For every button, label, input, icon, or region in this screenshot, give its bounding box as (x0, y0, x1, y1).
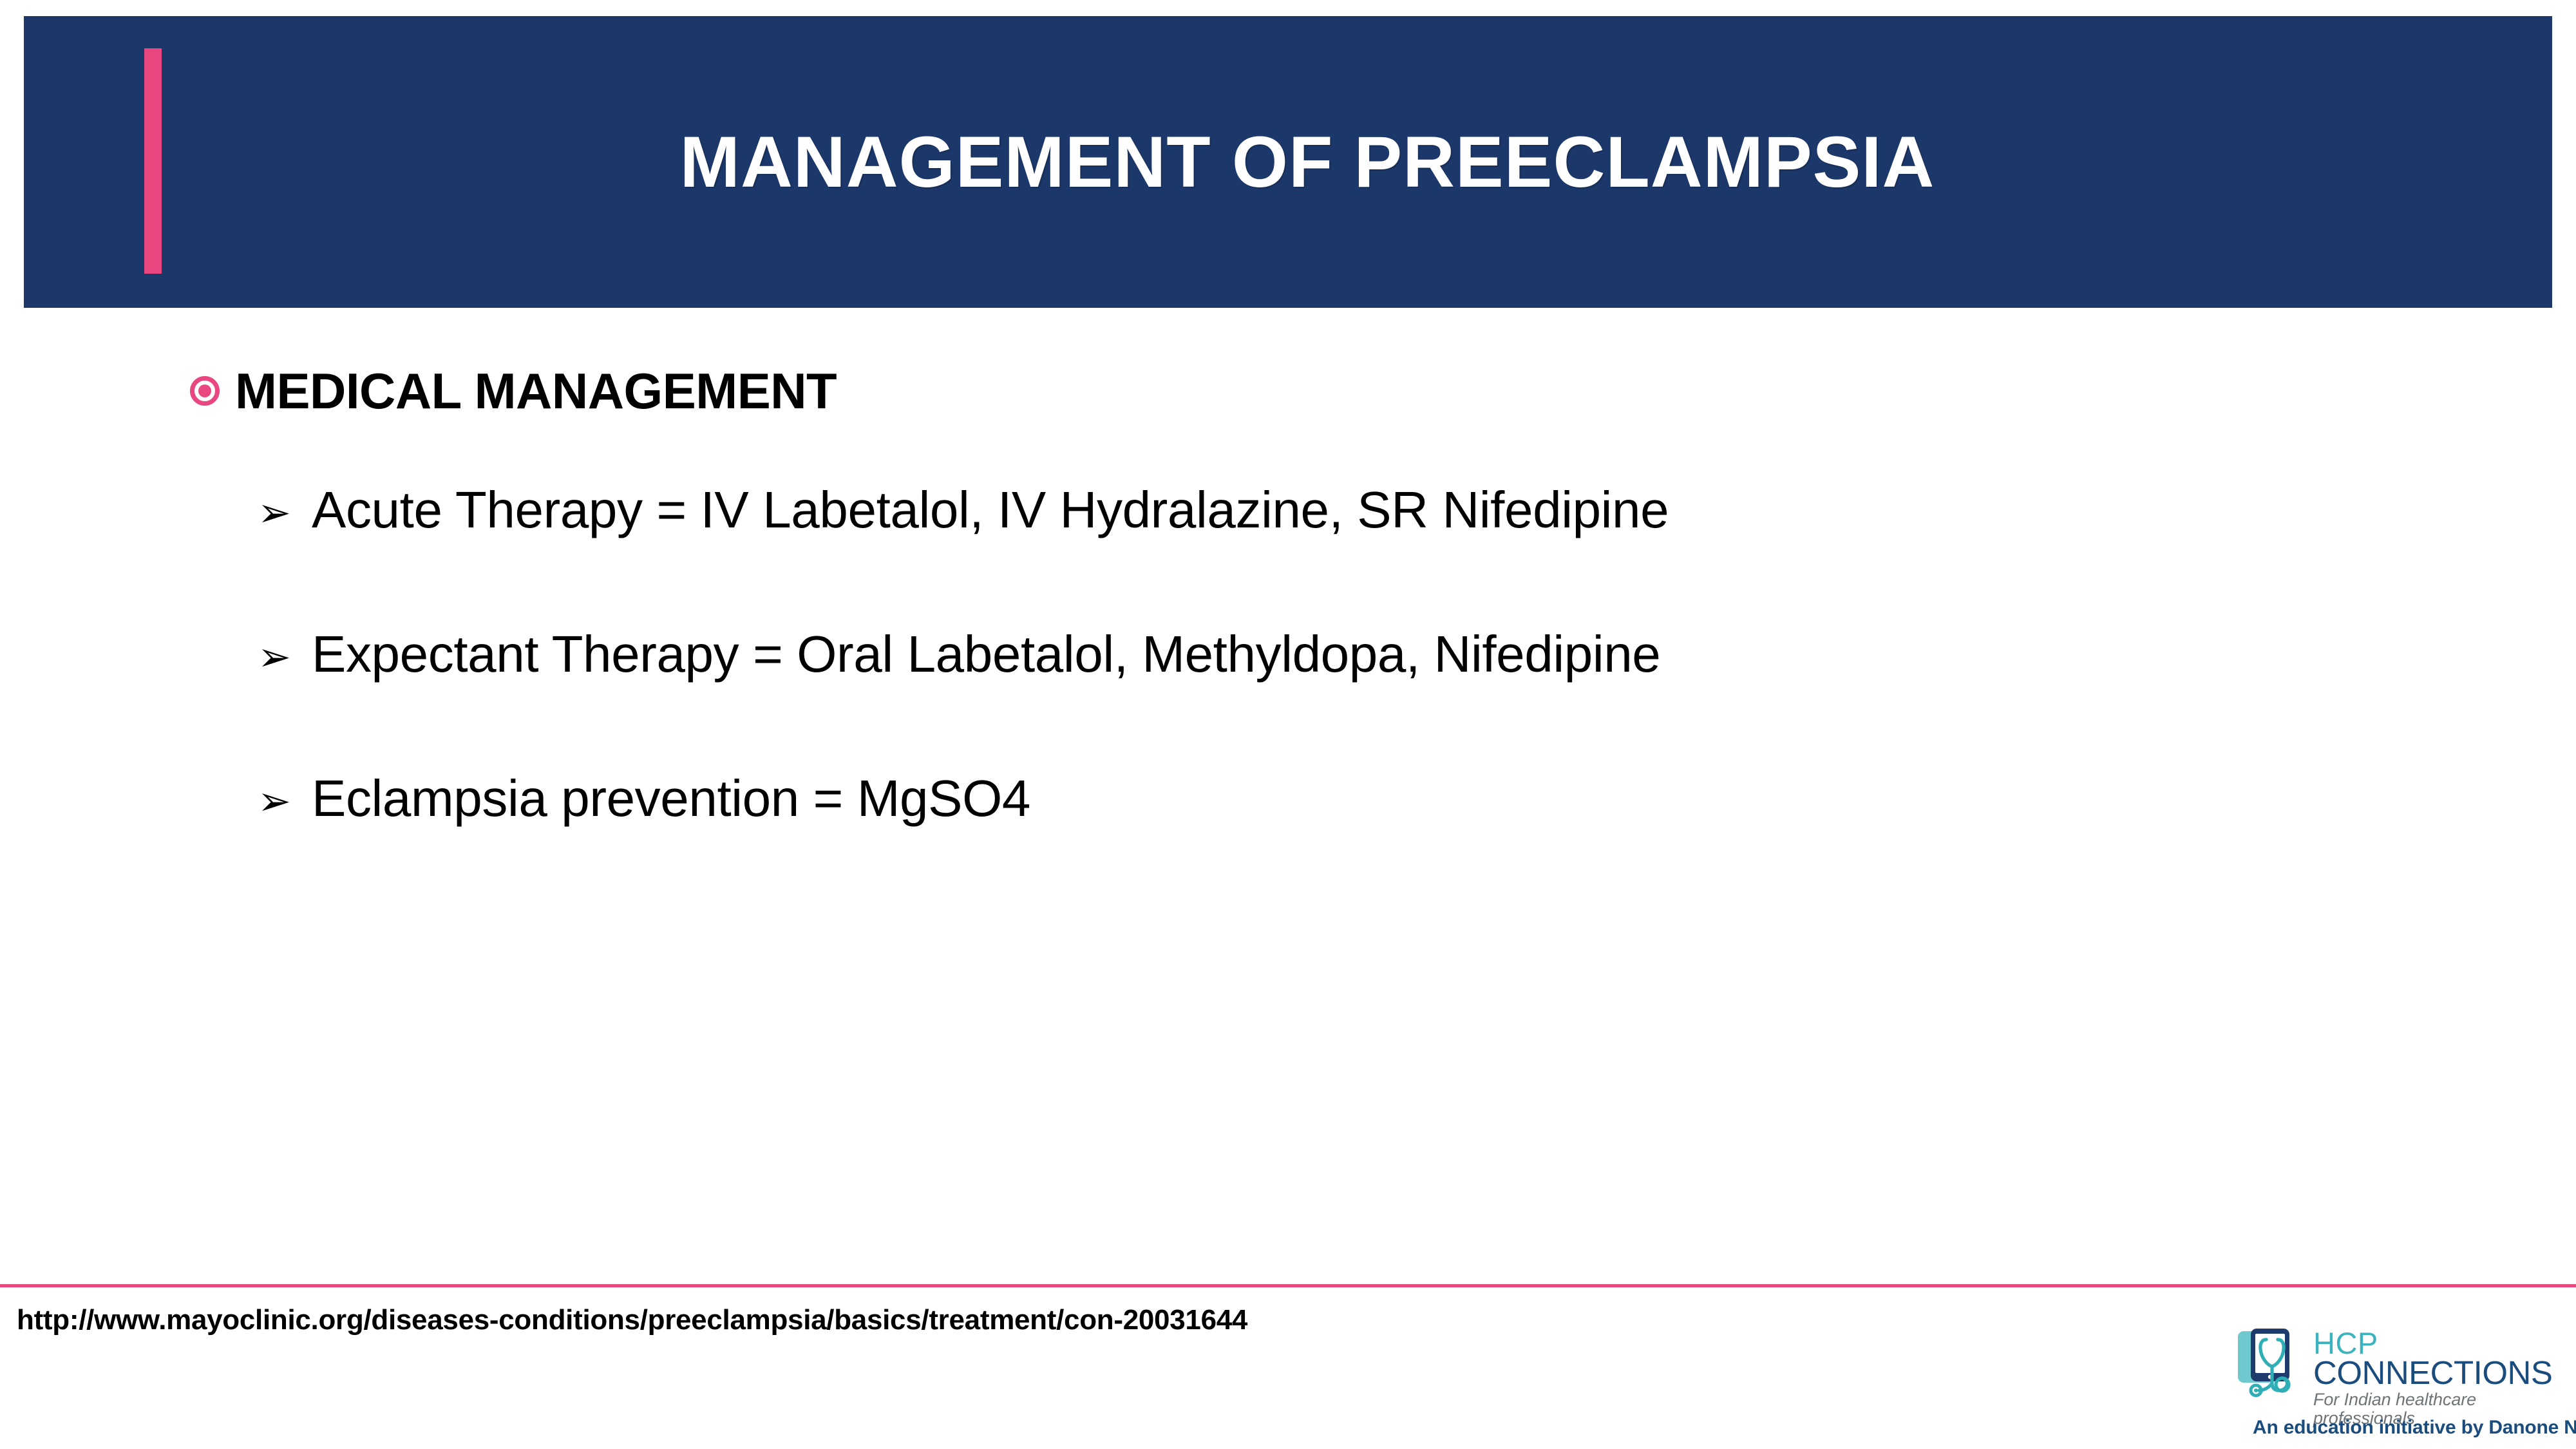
logo-name-connections: CONNECTIONS (2313, 1356, 2564, 1389)
arrowhead-bullet-icon: ➢ (258, 781, 287, 821)
bullet-level1-medical-management: MEDICAL MANAGEMENT (190, 366, 837, 416)
list-item-label: Expectant Therapy = Oral Labetalol, Meth… (312, 629, 1660, 680)
logo-name-hcp: HCP (2313, 1329, 2564, 1358)
logo-lockup: HCP CONNECTIONS For Indian healthcare pr… (2236, 1328, 2564, 1428)
bullet-level1-label: MEDICAL MANAGEMENT (235, 366, 837, 416)
sub-bullet-list: ➢ Acute Therapy = IV Labetalol, IV Hydra… (258, 484, 2447, 917)
hcp-connections-logo: HCP CONNECTIONS For Indian healthcare pr… (2236, 1328, 2564, 1444)
list-item: ➢ Acute Therapy = IV Labetalol, IV Hydra… (258, 484, 2447, 629)
list-item-label: Acute Therapy = IV Labetalol, IV Hydrala… (312, 484, 1669, 536)
target-bullet-icon (190, 376, 220, 406)
list-item: ➢ Eclampsia prevention = MgSO4 (258, 773, 2447, 917)
slide-body: MEDICAL MANAGEMENT ➢ Acute Therapy = IV … (0, 335, 2576, 1262)
page-title: MANAGEMENT OF PREECLAMPSIA (24, 16, 2552, 308)
list-item-label: Eclampsia prevention = MgSO4 (312, 773, 1030, 824)
slide-header-band: MANAGEMENT OF PREECLAMPSIA (24, 16, 2552, 308)
source-url-link[interactable]: http://www.mayoclinic.org/diseases-condi… (17, 1306, 1247, 1334)
logo-wordmark: HCP CONNECTIONS For Indian healthcare pr… (2313, 1328, 2564, 1428)
logo-initiative-line: An education initiative by Danone Nutric… (2253, 1418, 2576, 1437)
tablet-stethoscope-icon (2236, 1328, 2308, 1404)
arrowhead-bullet-icon: ➢ (258, 493, 287, 533)
list-item: ➢ Expectant Therapy = Oral Labetalol, Me… (258, 629, 2447, 773)
slide-root: MANAGEMENT OF PREECLAMPSIA MEDICAL MANAG… (0, 0, 2576, 1449)
arrowhead-bullet-icon: ➢ (258, 637, 287, 677)
footer-divider (0, 1284, 2576, 1287)
